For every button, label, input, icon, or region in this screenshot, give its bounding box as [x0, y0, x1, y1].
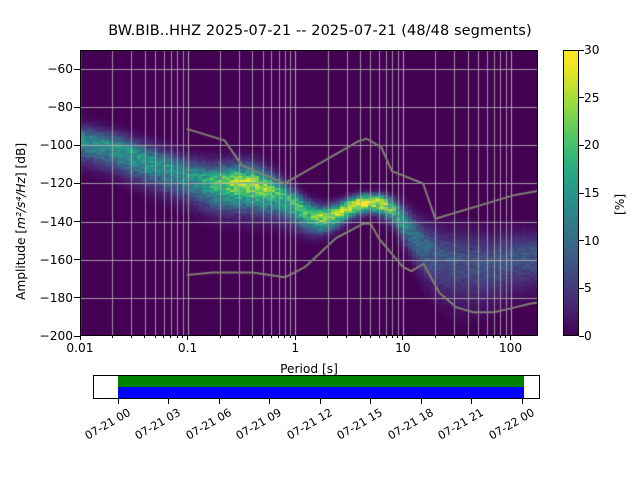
y-tick-mark	[74, 145, 80, 146]
x-tick-mark-minor	[155, 336, 156, 338]
x-tick-mark-minor	[500, 336, 501, 338]
timeline-tick-mark	[320, 399, 321, 404]
y-tick-mark	[74, 297, 80, 298]
x-tick-mark-major	[510, 336, 511, 340]
colorbar-tick-label: 10	[584, 234, 600, 248]
x-tick-mark-minor	[144, 336, 145, 338]
x-tick-mark-minor	[467, 336, 468, 338]
x-tick-mark-minor	[290, 336, 291, 338]
y-tick-mark	[74, 69, 80, 70]
colorbar-tick-label: 25	[584, 91, 600, 105]
timeline-tick-mark	[471, 399, 472, 404]
colorbar-frame	[563, 50, 579, 336]
x-tick-mark-minor	[505, 336, 506, 338]
figure-title: BW.BIB..HHZ 2025-07-21 -- 2025-07-21 (48…	[0, 23, 640, 39]
y-tick-mark	[74, 221, 80, 222]
x-axis-label: Period [s]	[80, 362, 538, 376]
y-tick-mark	[74, 183, 80, 184]
x-tick-mark-minor	[262, 336, 263, 338]
x-tick-mark-minor	[397, 336, 398, 338]
y-tick-label: −200	[0, 329, 73, 343]
timeline-tick-label: 07-21 15	[335, 406, 385, 442]
timeline-tick-mark	[370, 399, 371, 404]
timeline-tick-label: 07-21 21	[436, 406, 486, 442]
colorbar-tick-label: 0	[584, 329, 592, 343]
x-tick-mark-minor	[392, 336, 393, 338]
y-tick-label: −60	[0, 62, 73, 76]
y-tick-label: −180	[0, 291, 73, 305]
x-tick-mark-major	[80, 336, 81, 340]
x-tick-mark-minor	[370, 336, 371, 338]
x-tick-label: 100	[499, 341, 522, 355]
timeline-tick-mark	[421, 399, 422, 404]
colorbar-tick-label: 30	[584, 43, 600, 57]
y-tick-label: −160	[0, 253, 73, 267]
timeline-tick-mark	[219, 399, 220, 404]
data-coverage-green	[118, 376, 524, 387]
x-tick-mark-minor	[284, 336, 285, 338]
x-tick-mark-minor	[386, 336, 387, 338]
x-tick-mark-minor	[360, 336, 361, 338]
timeline-tick-label: 07-21 00	[82, 406, 132, 442]
y-tick-label: −140	[0, 215, 73, 229]
x-tick-mark-minor	[252, 336, 253, 338]
timeline-tick-label: 07-21 03	[133, 406, 183, 442]
x-tick-label: 0.01	[66, 341, 93, 355]
x-tick-label: 10	[395, 341, 411, 355]
x-tick-mark-major	[295, 336, 296, 340]
y-tick-label: −100	[0, 138, 73, 152]
y-tick-label: −80	[0, 100, 73, 114]
y-tick-mark	[74, 107, 80, 108]
x-tick-mark-minor	[112, 336, 113, 338]
x-tick-mark-minor	[379, 336, 380, 338]
x-tick-mark-major	[187, 336, 188, 340]
ppsd-figure: BW.BIB..HHZ 2025-07-21 -- 2025-07-21 (48…	[0, 0, 640, 480]
timeline-tick-mark	[118, 399, 119, 404]
x-tick-mark-minor	[346, 336, 347, 338]
y-tick-mark	[74, 259, 80, 260]
timeline-tick-label: 07-21 12	[284, 406, 334, 442]
x-tick-mark-minor	[131, 336, 132, 338]
timeline-tick-label: 07-21 06	[183, 406, 233, 442]
x-tick-mark-minor	[220, 336, 221, 338]
x-tick-mark-minor	[177, 336, 178, 338]
timeline-tick-mark	[522, 399, 523, 404]
x-tick-mark-major	[402, 336, 403, 340]
x-tick-mark-minor	[182, 336, 183, 338]
x-tick-mark-minor	[278, 336, 279, 338]
x-tick-mark-minor	[435, 336, 436, 338]
psd-coverage-blue	[118, 387, 524, 398]
x-tick-mark-minor	[486, 336, 487, 338]
x-tick-mark-minor	[493, 336, 494, 338]
x-tick-mark-minor	[327, 336, 328, 338]
colorbar-tick-label: 15	[584, 186, 600, 200]
x-tick-mark-minor	[163, 336, 164, 338]
timeline-tick-label: 07-21 18	[385, 406, 435, 442]
timeline-tick-label: 07-22 00	[487, 406, 537, 442]
timeline-tick-mark	[269, 399, 270, 404]
x-tick-mark-minor	[170, 336, 171, 338]
x-tick-label: 0.1	[178, 341, 197, 355]
colorbar-label: [%]	[613, 194, 627, 215]
x-tick-mark-minor	[271, 336, 272, 338]
x-tick-label: 1	[291, 341, 299, 355]
timeline-tick-mark	[168, 399, 169, 404]
colorbar-tick-label: 20	[584, 138, 600, 152]
x-tick-mark-minor	[478, 336, 479, 338]
x-tick-mark-minor	[238, 336, 239, 338]
colorbar-tick-label: 5	[584, 281, 592, 295]
y-tick-label: −120	[0, 176, 73, 190]
x-tick-mark-minor	[454, 336, 455, 338]
ppsd-heatmap	[80, 50, 538, 336]
timeline-tick-label: 07-21 09	[234, 406, 284, 442]
